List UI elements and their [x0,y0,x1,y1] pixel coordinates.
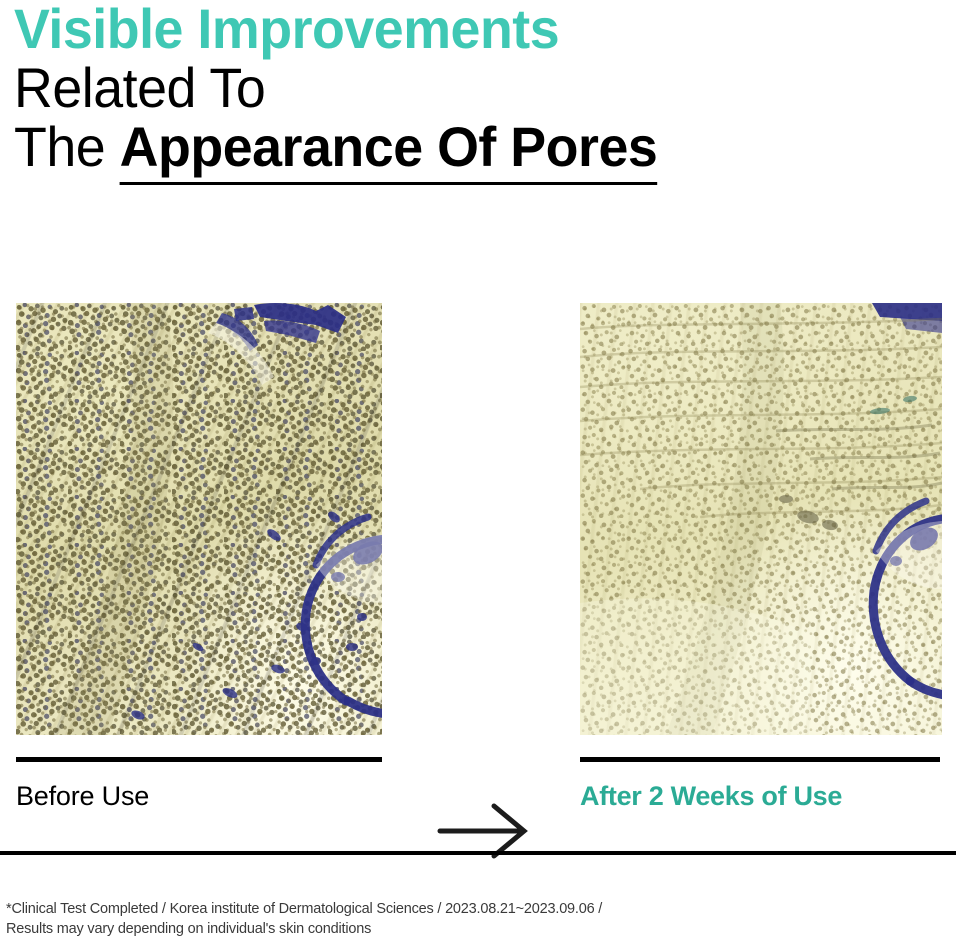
before-after-comparison [0,303,956,735]
clinical-test-footnote: *Clinical Test Completed / Korea institu… [6,899,906,939]
after-image-panel [580,303,942,735]
footnote-line-2: Results may vary depending on individual… [6,919,906,939]
headline-line-second: Related To [14,61,907,116]
before-caption-rule [16,757,382,762]
after-caption-rule [580,757,940,762]
footnote-line-1: *Clinical Test Completed / Korea institu… [6,899,906,919]
before-skin-streaks [16,303,382,735]
before-image-panel [16,303,382,735]
headline-line-third: The Appearance Of Pores [14,120,907,175]
headline-third-prefix: The [14,115,120,178]
headline-third-emphasis: Appearance Of Pores [120,115,658,185]
section-divider [0,851,956,855]
after-caption-label: After 2 Weeks of Use [580,779,842,813]
page-headline: Visible Improvements Related To The Appe… [14,2,944,175]
after-pore-speckles-small [580,303,942,735]
before-caption-label: Before Use [16,779,149,813]
headline-line-accent: Visible Improvements [14,2,907,57]
